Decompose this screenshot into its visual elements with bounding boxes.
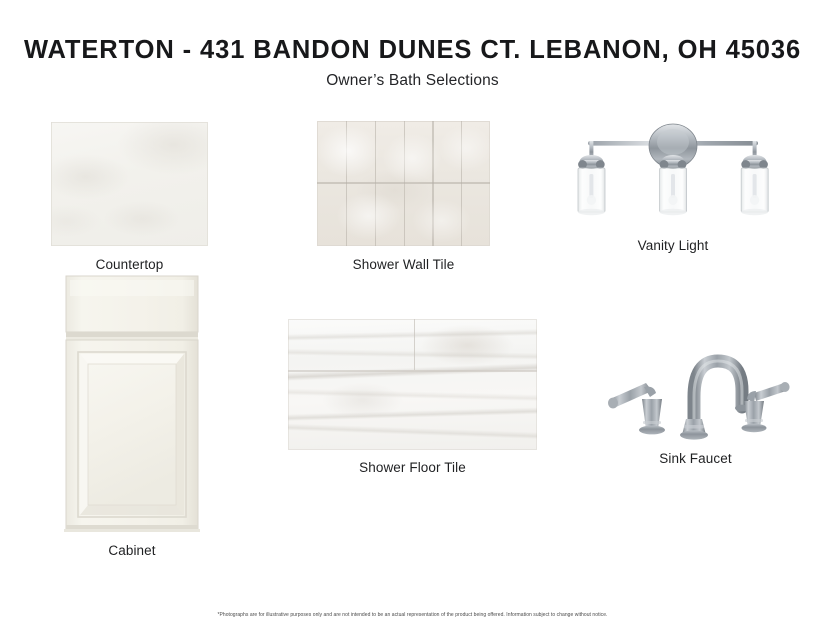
quartz-slab-texture [51, 122, 208, 246]
countertop-swatch-image [51, 122, 208, 246]
selection-label-cabinet: Cabinet [108, 543, 155, 558]
selection-card-cabinet[interactable]: Cabinet [62, 274, 202, 558]
sink-faucet-illustration [598, 335, 793, 445]
selection-card-shower-floor-tile[interactable]: Shower Floor Tile [288, 319, 537, 475]
selection-card-vanity-light[interactable]: Vanity Light [566, 116, 780, 253]
light-left [578, 155, 605, 215]
selection-label-shower-floor-tile: Shower Floor Tile [359, 460, 466, 475]
selections-board: Countertop Shower Wall Tile [0, 0, 825, 638]
tile-seam-horizontal [288, 370, 537, 372]
selection-label-countertop: Countertop [96, 257, 164, 272]
light-right [741, 155, 768, 215]
shower-floor-tile-swatch-image [288, 319, 537, 450]
selection-card-shower-wall-tile[interactable]: Shower Wall Tile [317, 121, 490, 272]
cabinet-product-image [62, 274, 202, 533]
vanity-light-illustration [566, 116, 780, 232]
marble-plank-texture [288, 319, 537, 450]
handle-left [608, 383, 665, 434]
tile-seam-vertical [414, 319, 416, 370]
selection-card-countertop[interactable]: Countertop [51, 122, 208, 272]
vanity-light-product-image [566, 116, 780, 232]
cabinet-door-illustration [62, 274, 202, 533]
selection-label-sink-faucet: Sink Faucet [659, 451, 731, 466]
selection-card-sink-faucet[interactable]: Sink Faucet [598, 335, 793, 466]
selection-label-shower-wall-tile: Shower Wall Tile [353, 257, 455, 272]
grout-line-horizontal [317, 182, 490, 184]
light-center [660, 155, 687, 215]
shower-wall-tile-swatch-image [317, 121, 490, 246]
sink-faucet-product-image [598, 335, 793, 445]
disclaimer-note: *Photographs are for illustrative purpos… [0, 612, 825, 619]
selection-label-vanity-light: Vanity Light [638, 238, 709, 253]
handle-right [742, 382, 790, 432]
